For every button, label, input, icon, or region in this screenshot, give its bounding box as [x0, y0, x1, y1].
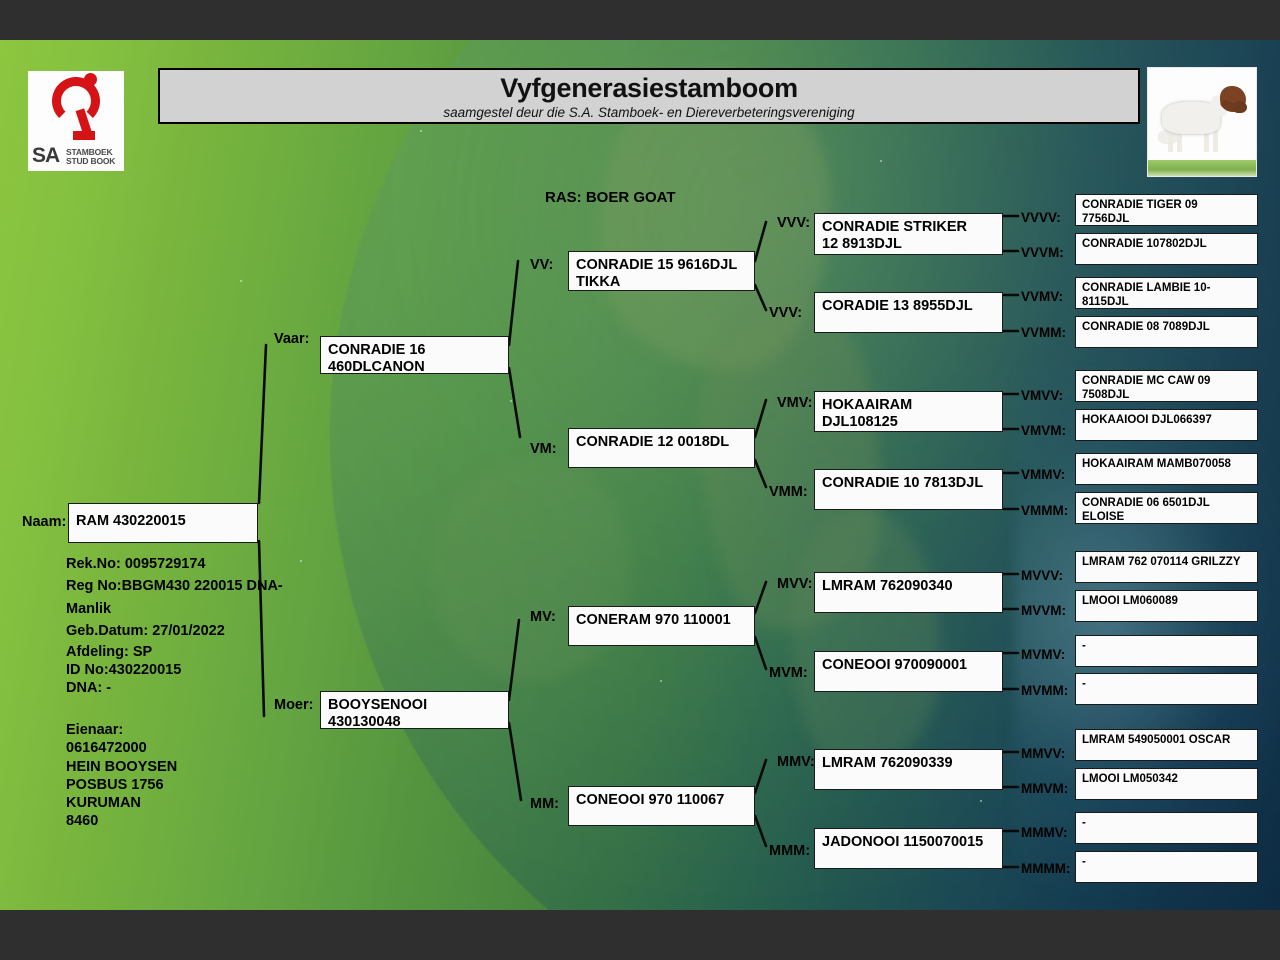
rek-no: Rek.No: 0095729174: [66, 553, 316, 575]
vmmm-label: VMMM:: [1021, 503, 1068, 518]
vvmm-label: VVMM:: [1021, 325, 1066, 340]
vmmv-label: VMMV:: [1021, 467, 1065, 482]
owner-name: HEIN BOOYSEN: [66, 758, 316, 776]
dam-box[interactable]: BOOYSENOOI430130048: [320, 691, 509, 729]
owner-address2: KURUMAN: [66, 794, 316, 812]
owner-phone: 0616472000: [66, 739, 316, 757]
photo-goat-leg: [1168, 130, 1173, 152]
mmv-label: MMV:: [777, 754, 815, 770]
logo-studbook-text: STAMBOEK STUD BOOK: [66, 148, 115, 166]
mmmv-box[interactable]: -: [1075, 812, 1258, 844]
page-title: Vyfgenerasiestamboom: [160, 73, 1138, 104]
mmvv-box[interactable]: LMRAM 549050001 OSCAR: [1075, 729, 1258, 761]
mmm-label: MMM:: [769, 843, 810, 859]
vmvm-label: VMVM:: [1021, 423, 1066, 438]
photo-goat-muzzle: [1233, 101, 1247, 113]
vvmv-box[interactable]: CONRADIE LAMBIE 10-8115DJL: [1075, 277, 1258, 309]
logo-studbook-line: STUD BOOK: [66, 157, 115, 166]
bottom-chrome-bar: [0, 910, 1280, 960]
mmvv-label: MMVV:: [1021, 746, 1065, 761]
owner-heading: Eienaar:: [66, 721, 316, 739]
vv-label: VV:: [530, 257, 553, 273]
title-banner: Vyfgenerasiestamboom saamgestel deur die…: [158, 68, 1140, 124]
mvmv-label: MVMV:: [1021, 647, 1065, 662]
vvvm-box[interactable]: CONRADIE 107802DJL: [1075, 233, 1258, 265]
owner-block: Eienaar: 0616472000 HEIN BOOYSEN POSBUS …: [66, 721, 316, 830]
mvvm-label: MVVM:: [1021, 603, 1066, 618]
vmvv-label: VMVV:: [1021, 388, 1063, 403]
mvvv-box[interactable]: LMRAM 762 070114 GRILZZY: [1075, 551, 1258, 583]
vmvm-box[interactable]: HOKAAIOOI DJL066397: [1075, 409, 1258, 441]
vmmv-box[interactable]: HOKAAIRAM MAMB070058: [1075, 453, 1258, 485]
mv-label: MV:: [530, 609, 556, 625]
mmmv-label: MMMV:: [1021, 825, 1068, 840]
afdeling: Afdeling: SP: [66, 643, 316, 661]
vvm-box[interactable]: CORADIE 13 8955DJL: [814, 292, 1003, 333]
vvvm-label: VVVM:: [1021, 245, 1064, 260]
vv-box[interactable]: CONRADIE 15 9616DJLTIKKA: [568, 251, 755, 291]
owner-postcode: 8460: [66, 812, 316, 830]
photo-grass: [1148, 160, 1257, 176]
mvvv-label: MVVV:: [1021, 568, 1063, 583]
logo-dot-icon: [84, 73, 97, 86]
vvmm-box[interactable]: CONRADIE 08 7089DJL: [1075, 316, 1258, 348]
subject-name-box[interactable]: RAM 430220015: [68, 503, 258, 543]
mvmv-box[interactable]: -: [1075, 635, 1258, 667]
vvv-label: VVV:: [777, 215, 810, 231]
naam-label: Naam:: [22, 514, 66, 530]
mvvm-box[interactable]: LMOOI LM060089: [1075, 590, 1258, 622]
vvvv-label: VVVV:: [1021, 210, 1061, 225]
geb-datum: Geb.Datum: 27/01/2022: [66, 620, 316, 642]
vmv-box[interactable]: HOKAAIRAMDJL108125: [814, 391, 1003, 432]
mvmm-label: MVMM:: [1021, 683, 1068, 698]
dam-label: Moer:: [274, 697, 313, 713]
vmm-label: VMM:: [769, 484, 808, 500]
vmm-box[interactable]: CONRADIE 10 7813DJL: [814, 469, 1003, 510]
mvv-box[interactable]: LMRAM 762090340: [814, 572, 1003, 613]
vm-box[interactable]: CONRADIE 12 0018DL: [568, 428, 755, 468]
sa-studbook-logo: SA STAMBOEK STUD BOOK: [28, 71, 124, 171]
mvv-label: MVV:: [777, 576, 812, 592]
mv-box[interactable]: CONERAM 970 110001: [568, 606, 755, 646]
photo-goat-leg: [1213, 130, 1218, 152]
subject-details: Rek.No: 0095729174 Reg No:BBGM430 220015…: [66, 553, 316, 830]
mmmm-label: MMMM:: [1021, 861, 1070, 876]
pedigree-page: SA STAMBOEK STUD BOOK Vyfgenerasiestambo…: [0, 0, 1280, 960]
vmvv-box[interactable]: CONRADIE MC CAW 097508DJL: [1075, 370, 1258, 402]
mmvm-box[interactable]: LMOOI LM050342: [1075, 768, 1258, 800]
owner-address1: POSBUS 1756: [66, 776, 316, 794]
mmvm-label: MMVM:: [1021, 781, 1068, 796]
mm-label: MM:: [530, 796, 559, 812]
logo-sa-text: SA: [32, 144, 59, 168]
top-chrome-bar: [0, 0, 1280, 40]
sire-label: Vaar:: [274, 331, 309, 347]
mmm-box[interactable]: JADONOOI 1150070015: [814, 828, 1003, 869]
geslag: Manlik: [66, 598, 316, 620]
boer-goat-photo: [1147, 67, 1257, 177]
mm-box[interactable]: CONEOOI 970 110067: [568, 786, 755, 826]
logo-tail-foot-icon: [73, 131, 95, 140]
vvv-box[interactable]: CONRADIE STRIKER12 8913DJL: [814, 213, 1003, 255]
reg-no: Reg No:BBGM430 220015 DNA-: [66, 575, 316, 597]
vvm-label: VVV:: [769, 305, 802, 321]
vm-label: VM:: [530, 441, 557, 457]
mvm-box[interactable]: CONEOOI 970090001: [814, 651, 1003, 692]
breed-label: RAS: BOER GOAT: [545, 189, 676, 206]
vmmm-box[interactable]: CONRADIE 06 6501DJLELOISE: [1075, 492, 1258, 524]
page-subtitle: saamgestel deur die S.A. Stamboek- en Di…: [160, 105, 1138, 120]
id-no: ID No:430220015: [66, 661, 316, 679]
mvm-label: MVM:: [769, 665, 808, 681]
mmv-box[interactable]: LMRAM 762090339: [814, 749, 1003, 790]
vvvv-box[interactable]: CONRADIE TIGER 097756DJL: [1075, 194, 1258, 226]
sire-box[interactable]: CONRADIE 16460DLCANON: [320, 336, 509, 374]
vvmv-label: VVMV:: [1021, 289, 1063, 304]
mvmm-box[interactable]: -: [1075, 673, 1258, 705]
dna: DNA: -: [66, 679, 316, 697]
mmmm-box[interactable]: -: [1075, 851, 1258, 883]
vmv-label: VMV:: [777, 395, 812, 411]
